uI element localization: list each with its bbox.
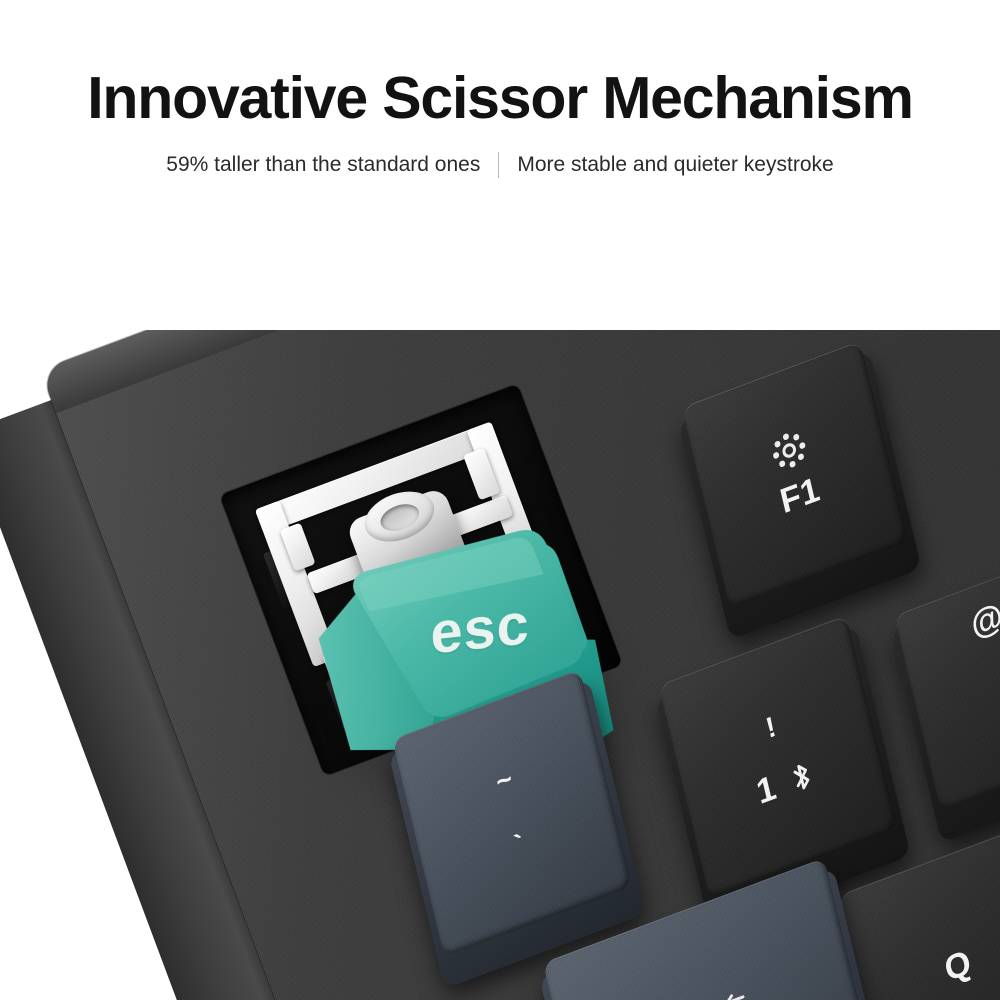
subtitle-left: 59% taller than the standard ones (166, 153, 480, 177)
subtitle-right: More stable and quieter keystroke (517, 153, 833, 177)
page-title: Innovative Scissor Mechanism (0, 68, 1000, 130)
subtitle-divider (498, 152, 499, 178)
product-hero-image: Innovative Scissor Mechanism 59% taller … (0, 0, 1000, 1000)
subtitle-row: 59% taller than the standard ones More s… (0, 152, 1000, 178)
keyboard-photo: esc F1 (0, 330, 1000, 1000)
